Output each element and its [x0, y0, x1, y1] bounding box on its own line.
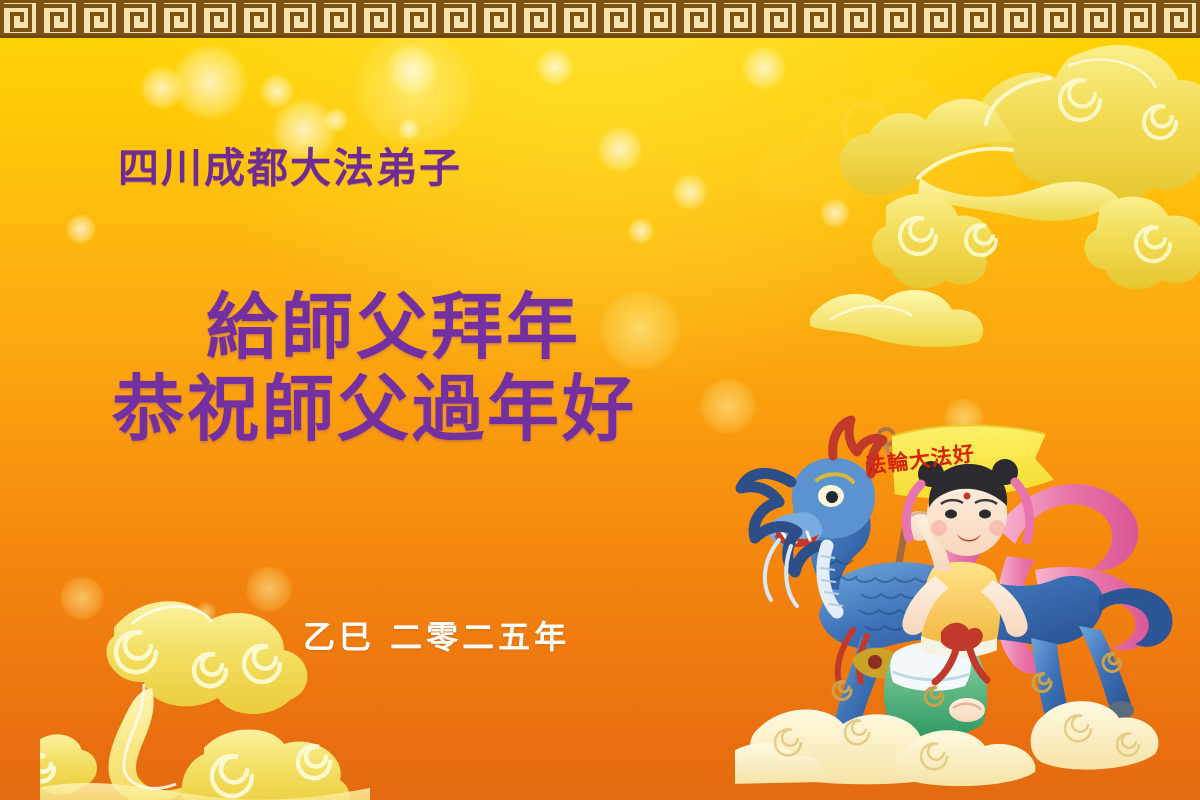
bokeh-light: [536, 48, 574, 86]
child-riding-dragon-illustration: [735, 410, 1200, 800]
meander-pattern: [0, 0, 1200, 38]
auspicious-cloud-ornament: [800, 30, 1200, 350]
bokeh-light: [260, 74, 294, 108]
bokeh-light: [172, 44, 248, 120]
auspicious-cloud-ornament: [740, 40, 1040, 230]
date-line: 乙巳 二零二五年: [303, 612, 570, 658]
new-year-greeting-card: 法輪大法好 四川成都大法弟子 給師父拜年 恭祝師父過年好 乙巳 二零二五年: [0, 0, 1200, 800]
bokeh-light: [140, 66, 184, 110]
bokeh-light: [60, 576, 104, 620]
bokeh-light: [672, 174, 708, 210]
bokeh-light: [246, 566, 292, 612]
greeting-organization: 四川成都大法弟子: [118, 134, 462, 194]
greek-key-meander-border: [0, 0, 1200, 38]
bokeh-light: [386, 44, 438, 96]
main-greeting-line-2: 恭祝師父過年好: [112, 350, 637, 455]
bokeh-light: [196, 602, 216, 622]
bokeh-light: [597, 126, 643, 172]
bokeh-light: [742, 46, 786, 90]
bokeh-light: [352, 34, 478, 144]
bokeh-light: [820, 198, 850, 228]
bokeh-light: [324, 108, 348, 132]
bokeh-light: [628, 218, 654, 244]
bokeh-light: [66, 214, 96, 244]
